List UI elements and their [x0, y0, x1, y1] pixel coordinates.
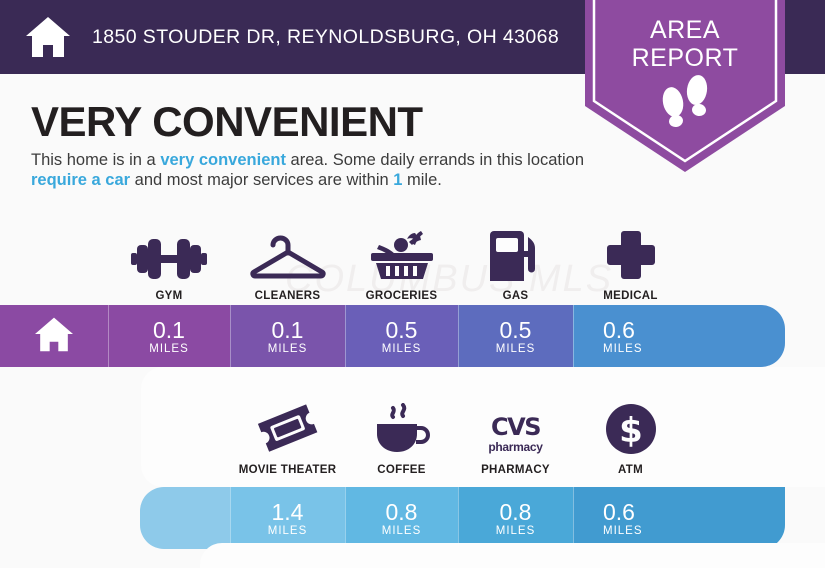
atm-dollar-icon: $: [605, 403, 657, 455]
distance-value: 0.6: [603, 318, 635, 342]
band-cell-atm: 0.6 MILES: [573, 487, 785, 549]
blurb-part-3: and most major services are within: [130, 171, 393, 189]
amenity-label: COFFEE: [377, 464, 425, 476]
band-cell-gym: 0.1 MILES: [108, 305, 230, 367]
home-icon: [33, 315, 75, 358]
band-cell-gas: 0.5 MILES: [458, 305, 573, 367]
amenity-icons-row-1: GYM CLEANERS: [108, 222, 688, 302]
amenity-label: CLEANERS: [255, 290, 321, 302]
blurb-highlight-2: require a car: [31, 171, 130, 189]
dumbbell-icon: [131, 229, 207, 281]
hanger-icon: [248, 229, 328, 281]
amenity-coffee: COFFEE: [345, 392, 458, 476]
distance-unit: MILES: [149, 343, 189, 355]
distance-value: 0.8: [500, 500, 532, 524]
distance-value: 1.4: [272, 500, 304, 524]
area-report-page: 1850 STOUDER DR, REYNOLDSBURG, OH 43068 …: [0, 0, 825, 568]
distance-value: 0.1: [153, 318, 185, 342]
distance-unit: MILES: [603, 343, 643, 355]
band-cell-coffee: 0.8 MILES: [345, 487, 458, 549]
distance-unit: MILES: [382, 525, 422, 537]
medical-cross-icon: [605, 229, 657, 281]
distance-unit: MILES: [268, 525, 308, 537]
distance-band-row-1: 0.1 MILES 0.1 MILES 0.5 MILES 0.5 MILES …: [0, 305, 785, 367]
band-spacer-cell: [140, 487, 230, 549]
amenity-label: GAS: [503, 290, 529, 302]
band-home-cell: [0, 305, 108, 367]
amenity-atm: $ ATM: [573, 392, 688, 476]
cvs-brand: CVS: [491, 413, 540, 441]
distance-unit: MILES: [496, 343, 536, 355]
page-title: VERY CONVENIENT: [31, 98, 423, 146]
badge-line-1: AREA: [585, 16, 785, 44]
badge-text: AREA REPORT: [585, 16, 785, 72]
distance-value: 0.1: [272, 318, 304, 342]
amenity-label: ATM: [618, 464, 643, 476]
band-cell-cleaners: 0.1 MILES: [230, 305, 345, 367]
cvs-sub: pharmacy: [488, 440, 542, 454]
icon-panel-bottom: [200, 543, 825, 568]
badge-line-2: REPORT: [585, 44, 785, 72]
cvs-pharmacy-logo: CVS pharmacy: [488, 403, 542, 455]
amenity-gym: GYM: [108, 222, 230, 302]
amenity-movie-theater: MOVIE THEATER: [230, 392, 345, 476]
amenity-label: PHARMACY: [481, 464, 550, 476]
distance-unit: MILES: [382, 343, 422, 355]
amenity-label: GYM: [155, 290, 182, 302]
svg-text:$: $: [619, 411, 643, 451]
band-cell-movie-theater: 1.4 MILES: [230, 487, 345, 549]
distance-band-row-2: 1.4 MILES 0.8 MILES 0.8 MILES 0.6 MILES: [140, 487, 785, 549]
amenity-pharmacy: CVS pharmacy PHARMACY: [458, 392, 573, 476]
amenity-icons-row-2: MOVIE THEATER COFFEE CVS pharmacy: [230, 392, 688, 476]
blurb-highlight-1: very convenient: [160, 151, 286, 169]
distance-unit: MILES: [496, 525, 536, 537]
amenity-cleaners: CLEANERS: [230, 222, 345, 302]
band-cell-groceries: 0.5 MILES: [345, 305, 458, 367]
blurb-part-2: area. Some daily errands in this locatio…: [286, 151, 584, 169]
distance-value: 0.6: [603, 500, 635, 524]
coffee-cup-icon: [373, 403, 431, 455]
band-cell-pharmacy: 0.8 MILES: [458, 487, 573, 549]
blurb-part-1: This home is in a: [31, 151, 160, 169]
distance-unit: MILES: [268, 343, 308, 355]
distance-value: 0.8: [386, 500, 418, 524]
distance-value: 0.5: [386, 318, 418, 342]
blurb-part-4: mile.: [402, 171, 441, 189]
distance-value: 0.5: [500, 318, 532, 342]
home-icon: [24, 15, 72, 59]
summary-text: This home is in a very convenient area. …: [31, 150, 591, 190]
area-report-badge: AREA REPORT: [585, 0, 785, 172]
property-address: 1850 STOUDER DR, REYNOLDSBURG, OH 43068: [92, 26, 559, 49]
gas-pump-icon: [488, 229, 544, 281]
amenity-label: GROCERIES: [366, 290, 438, 302]
band-cell-medical: 0.6 MILES: [573, 305, 785, 367]
amenity-label: MEDICAL: [603, 290, 658, 302]
ticket-icon: [256, 403, 320, 455]
amenity-label: MOVIE THEATER: [239, 464, 337, 476]
amenity-groceries: GROCERIES: [345, 222, 458, 302]
basket-icon: [369, 229, 435, 281]
amenity-gas: GAS: [458, 222, 573, 302]
amenity-medical: MEDICAL: [573, 222, 688, 302]
distance-unit: MILES: [603, 525, 643, 537]
